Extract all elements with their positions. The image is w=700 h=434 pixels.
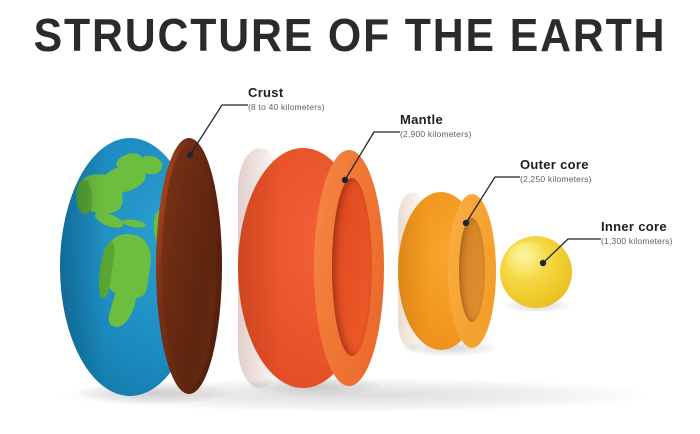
layer-inner-core[interactable]	[500, 236, 574, 310]
inner-core-highlight	[507, 242, 547, 278]
callout-inner-core-depth: (1,300 kilometers)	[601, 236, 673, 247]
callout-mantle[interactable]: Mantle (2,900 kilometers)	[400, 113, 472, 140]
continent-west-coast-shade	[74, 179, 95, 215]
layer-mantle[interactable]	[238, 148, 384, 388]
callout-inner-core[interactable]: Inner core (1,300 kilometers)	[601, 220, 673, 247]
callout-crust-title: Crust	[248, 86, 325, 100]
outer-core-cavity	[459, 218, 485, 322]
layer-outer-core[interactable]	[398, 192, 496, 350]
crust-cut-face	[156, 138, 222, 394]
earth-structure-infographic: STRUCTURE OF THE EARTH	[0, 0, 700, 434]
callout-crust[interactable]: Crust (8 to 40 kilometers)	[248, 86, 325, 113]
callout-mantle-title: Mantle	[400, 113, 472, 127]
callout-outer-core-title: Outer core	[520, 158, 592, 172]
mantle-cavity	[332, 178, 372, 356]
continent-caribbean	[122, 218, 147, 229]
callout-crust-depth: (8 to 40 kilometers)	[248, 102, 325, 113]
page-title: STRUCTURE OF THE EARTH	[25, 8, 676, 62]
layer-crust[interactable]	[60, 138, 210, 396]
callout-inner-core-title: Inner core	[601, 220, 673, 234]
callout-outer-core[interactable]: Outer core (2,250 kilometers)	[520, 158, 592, 185]
crust-cut-face-inner	[162, 145, 216, 387]
callout-mantle-depth: (2,900 kilometers)	[400, 129, 472, 140]
callout-outer-core-depth: (2,250 kilometers)	[520, 174, 592, 185]
